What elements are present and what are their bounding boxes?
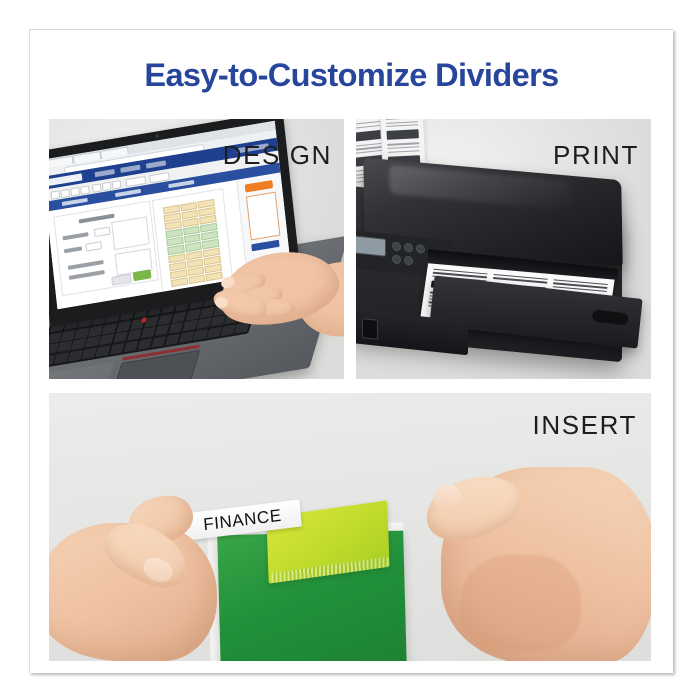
cancel-button-thumb[interactable]: [111, 274, 132, 286]
memory-card-slot[interactable]: [362, 318, 378, 340]
printer-button[interactable]: [404, 243, 413, 253]
form-heading: [79, 214, 115, 224]
printer-button[interactable]: [392, 254, 401, 264]
printer-button[interactable]: [392, 241, 401, 251]
panel-insert: FINANCE INSERT: [49, 393, 651, 661]
panel-design: DESIGN: [49, 119, 344, 379]
tray-handle[interactable]: [592, 309, 629, 325]
panel-print: PRINT: [356, 119, 651, 379]
hand-on-keyboard: [199, 247, 344, 367]
card-surface: Easy-to-Customize Dividers: [29, 29, 673, 673]
lid-highlight: [389, 165, 570, 210]
sidebar-preview-card: [246, 192, 280, 241]
right-hand: [417, 427, 651, 661]
printer-button[interactable]: [416, 244, 425, 254]
sidebar-highlight: [245, 180, 273, 193]
left-hand: [49, 471, 249, 661]
fingers-behind-divider: [461, 555, 581, 651]
product-feature-graphic: Easy-to-Customize Dividers: [0, 0, 700, 700]
panel-caption-design: DESIGN: [223, 140, 332, 171]
printer-button[interactable]: [404, 256, 413, 266]
panel-caption-insert: INSERT: [533, 410, 637, 441]
printer-lcd-screen: [356, 235, 386, 257]
panel-caption-print: PRINT: [553, 140, 639, 171]
webcam-icon: [156, 134, 159, 137]
apply-button-thumb[interactable]: [133, 269, 152, 281]
page-title: Easy-to-Customize Dividers: [30, 57, 673, 94]
design-options-form[interactable]: [53, 200, 158, 296]
